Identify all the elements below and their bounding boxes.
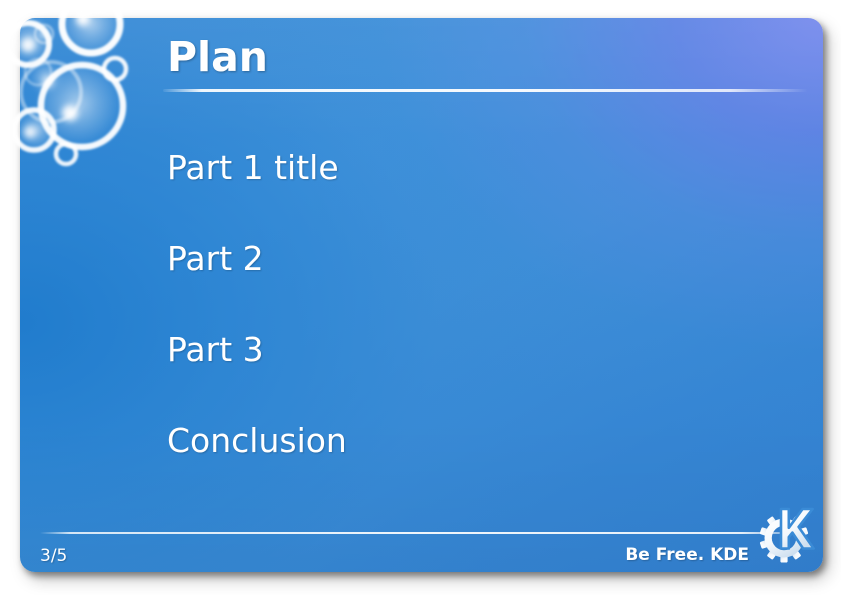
footer-note: Be Free. KDE <box>625 545 749 565</box>
list-item: Conclusion <box>167 424 787 515</box>
footer-divider <box>40 532 802 534</box>
slide-body-list: Part 1 title Part 2 Part 3 Conclusion <box>167 151 787 515</box>
page-number: 3/5 <box>40 546 67 566</box>
title-divider <box>163 89 808 92</box>
presentation-slide: Plan Part 1 title Part 2 Part 3 Conclusi… <box>20 18 823 572</box>
list-item: Part 3 <box>167 333 787 424</box>
slide-title: Plan <box>167 34 268 81</box>
list-item-label: Conclusion <box>167 424 347 457</box>
list-item: Part 2 <box>167 242 787 333</box>
list-item-label: Part 2 <box>167 242 264 275</box>
list-item: Part 1 title <box>167 151 787 242</box>
slide-canvas: Plan Part 1 title Part 2 Part 3 Conclusi… <box>0 0 841 595</box>
list-item-label: Part 1 title <box>167 151 339 184</box>
list-item-label: Part 3 <box>167 333 264 366</box>
